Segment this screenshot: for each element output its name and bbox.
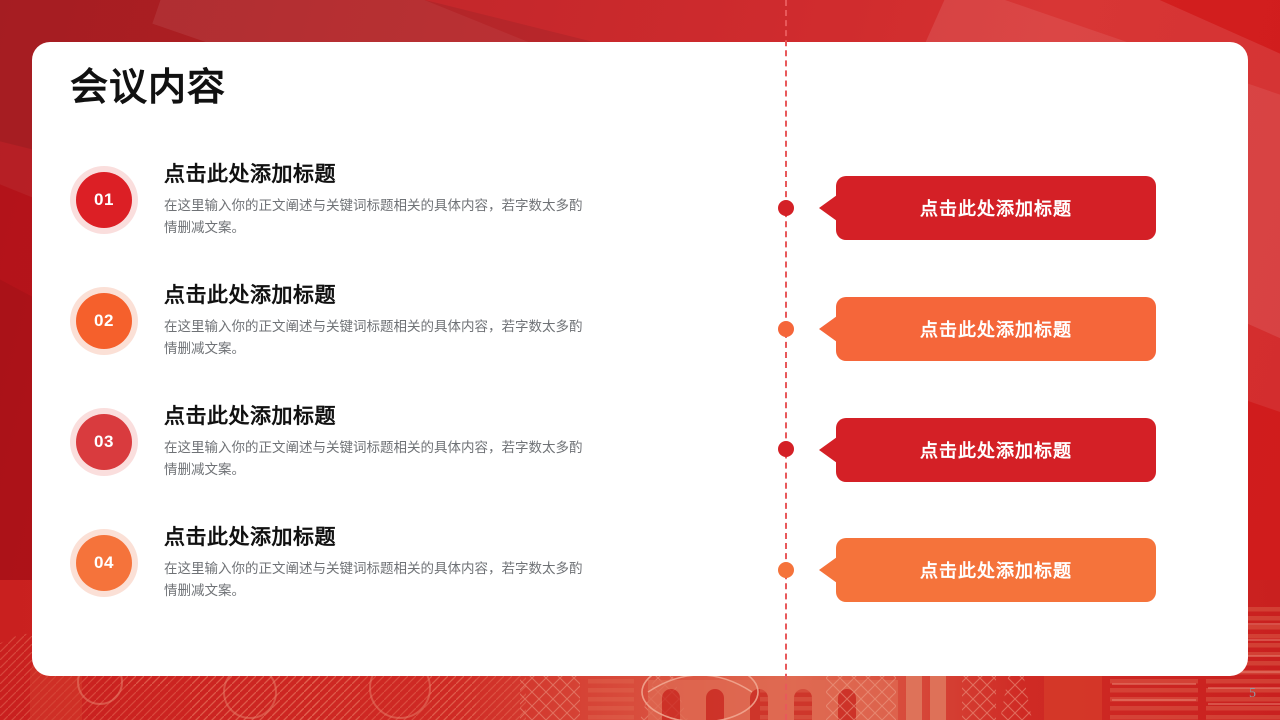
item-number-badge: 03 xyxy=(70,408,138,476)
callout-label: 点击此处添加标题 xyxy=(920,195,1072,221)
callout-arrow-icon xyxy=(819,557,837,583)
item-number-badge: 04 xyxy=(70,529,138,597)
item-description: 在这里输入你的正文阐述与关键词标题相关的具体内容，若字数太多酌情删减文案。 xyxy=(164,437,594,481)
item-description: 在这里输入你的正文阐述与关键词标题相关的具体内容，若字数太多酌情删减文案。 xyxy=(164,316,594,360)
item-text-block: 点击此处添加标题 在这里输入你的正文阐述与关键词标题相关的具体内容，若字数太多酌… xyxy=(164,404,684,481)
timeline-dot xyxy=(778,441,794,457)
item-description: 在这里输入你的正文阐述与关键词标题相关的具体内容，若字数太多酌情删减文案。 xyxy=(164,558,594,602)
item-title: 点击此处添加标题 xyxy=(164,525,684,551)
callout-label: 点击此处添加标题 xyxy=(920,557,1072,583)
item-number-label: 02 xyxy=(94,311,114,331)
item-number-label: 01 xyxy=(94,190,114,210)
page-number: 5 xyxy=(1249,686,1256,702)
item-number-badge: 02 xyxy=(70,287,138,355)
item-number-badge: 01 xyxy=(70,166,138,234)
item-number-circle: 02 xyxy=(76,293,132,349)
callout-card[interactable]: 点击此处添加标题 xyxy=(836,297,1156,361)
timeline-dashed-line xyxy=(785,0,787,720)
callout-card[interactable]: 点击此处添加标题 xyxy=(836,418,1156,482)
timeline-dot xyxy=(778,562,794,578)
list-item[interactable]: 04 点击此处添加标题 在这里输入你的正文阐述与关键词标题相关的具体内容，若字数… xyxy=(70,525,690,646)
callout-label: 点击此处添加标题 xyxy=(920,316,1072,342)
item-number-label: 03 xyxy=(94,432,114,452)
callout-arrow-icon xyxy=(819,195,837,221)
item-number-label: 04 xyxy=(94,553,114,573)
item-text-block: 点击此处添加标题 在这里输入你的正文阐述与关键词标题相关的具体内容，若字数太多酌… xyxy=(164,162,684,239)
item-number-circle: 01 xyxy=(76,172,132,228)
item-title: 点击此处添加标题 xyxy=(164,162,684,188)
callout-card[interactable]: 点击此处添加标题 xyxy=(836,176,1156,240)
item-number-circle: 04 xyxy=(76,535,132,591)
content-list: 01 点击此处添加标题 在这里输入你的正文阐述与关键词标题相关的具体内容，若字数… xyxy=(70,162,690,646)
list-item[interactable]: 02 点击此处添加标题 在这里输入你的正文阐述与关键词标题相关的具体内容，若字数… xyxy=(70,283,690,404)
timeline-dot xyxy=(778,200,794,216)
item-text-block: 点击此处添加标题 在这里输入你的正文阐述与关键词标题相关的具体内容，若字数太多酌… xyxy=(164,525,684,602)
slide-root: 5 会议内容 01 点击此处添加标题 在这里输入你的正文阐述与关键词标题相关的具… xyxy=(0,0,1280,720)
list-item[interactable]: 01 点击此处添加标题 在这里输入你的正文阐述与关键词标题相关的具体内容，若字数… xyxy=(70,162,690,283)
list-item[interactable]: 03 点击此处添加标题 在这里输入你的正文阐述与关键词标题相关的具体内容，若字数… xyxy=(70,404,690,525)
item-description: 在这里输入你的正文阐述与关键词标题相关的具体内容，若字数太多酌情删减文案。 xyxy=(164,195,594,239)
page-title: 会议内容 xyxy=(70,56,226,111)
callout-arrow-icon xyxy=(819,316,837,342)
item-title: 点击此处添加标题 xyxy=(164,404,684,430)
item-title: 点击此处添加标题 xyxy=(164,283,684,309)
timeline-dot xyxy=(778,321,794,337)
item-text-block: 点击此处添加标题 在这里输入你的正文阐述与关键词标题相关的具体内容，若字数太多酌… xyxy=(164,283,684,360)
callout-card[interactable]: 点击此处添加标题 xyxy=(836,538,1156,602)
callout-arrow-icon xyxy=(819,437,837,463)
callout-label: 点击此处添加标题 xyxy=(920,437,1072,463)
item-number-circle: 03 xyxy=(76,414,132,470)
